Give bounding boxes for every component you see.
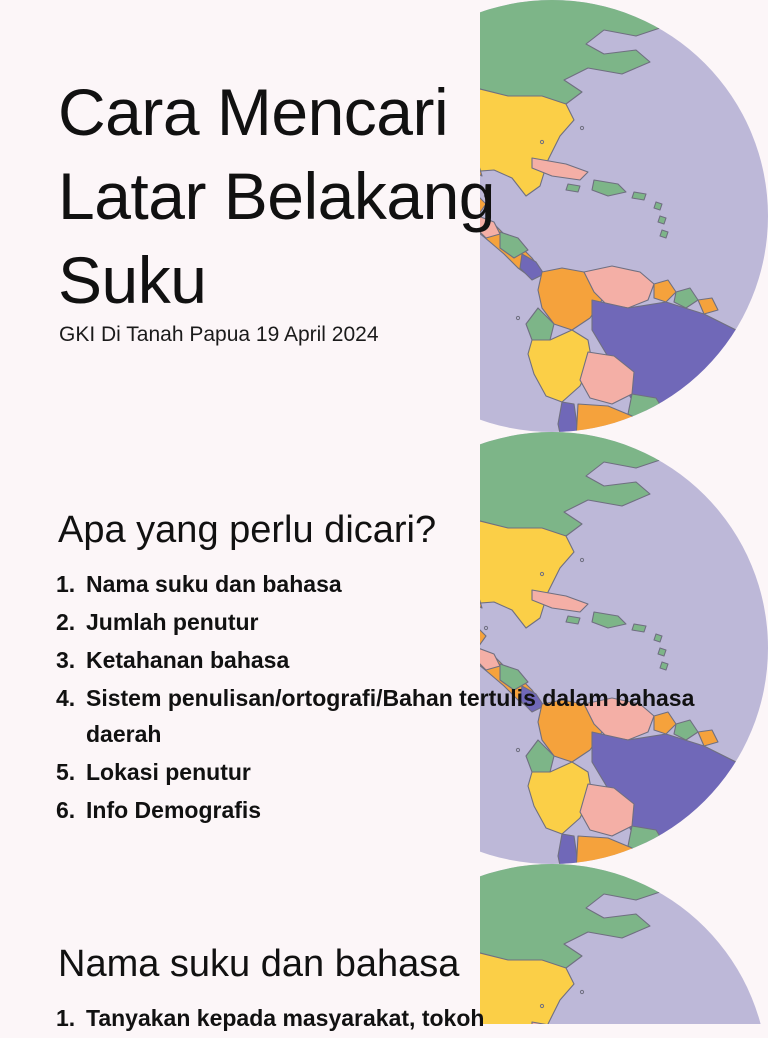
list-item: 2.Jumlah penutur [56, 604, 696, 640]
page-title: Cara Mencari Latar Belakang Suku [58, 70, 578, 322]
list-item-number: 3. [56, 642, 86, 678]
list-item-number: 2. [56, 604, 86, 640]
slide-content: Cara Mencari Latar Belakang Suku GKI Di … [0, 0, 768, 1024]
list-item: 4.Sistem penulisan/ortografi/Bahan tertu… [56, 680, 696, 752]
list-nama-suku-dan-bahasa: 1.Tanyakan kepada masyarakat, tokoh [56, 1000, 696, 1038]
list-item: 3.Ketahanan bahasa [56, 642, 696, 678]
slide-subtitle: GKI Di Tanah Papua 19 April 2024 [59, 320, 379, 350]
list-item-number: 6. [56, 792, 86, 828]
list-item: 1.Nama suku dan bahasa [56, 566, 696, 602]
list-item-number: 1. [56, 566, 86, 602]
list-item-number: 1. [56, 1000, 86, 1036]
section-heading-nama-suku-dan-bahasa: Nama suku dan bahasa [58, 940, 459, 988]
list-item-label: Jumlah penutur [86, 604, 696, 640]
list-item-number: 5. [56, 754, 86, 790]
section-heading-apa-yang-perlu-dicari: Apa yang perlu dicari? [58, 506, 436, 554]
list-item: 6.Info Demografis [56, 792, 696, 828]
list-item-label: Tanyakan kepada masyarakat, tokoh [86, 1000, 696, 1036]
list-item-label: Info Demografis [86, 792, 696, 828]
list-item-label: Sistem penulisan/ortografi/Bahan tertuli… [86, 680, 696, 752]
list-item-label: Lokasi penutur [86, 754, 696, 790]
list-item-number: 4. [56, 680, 86, 716]
list-apa-yang-perlu-dicari: 1.Nama suku dan bahasa2.Jumlah penutur3.… [56, 566, 696, 830]
list-item: 5.Lokasi penutur [56, 754, 696, 790]
list-item-label: Nama suku dan bahasa [86, 566, 696, 602]
list-item-label: Ketahanan bahasa [86, 642, 696, 678]
list-item: 1.Tanyakan kepada masyarakat, tokoh [56, 1000, 696, 1036]
